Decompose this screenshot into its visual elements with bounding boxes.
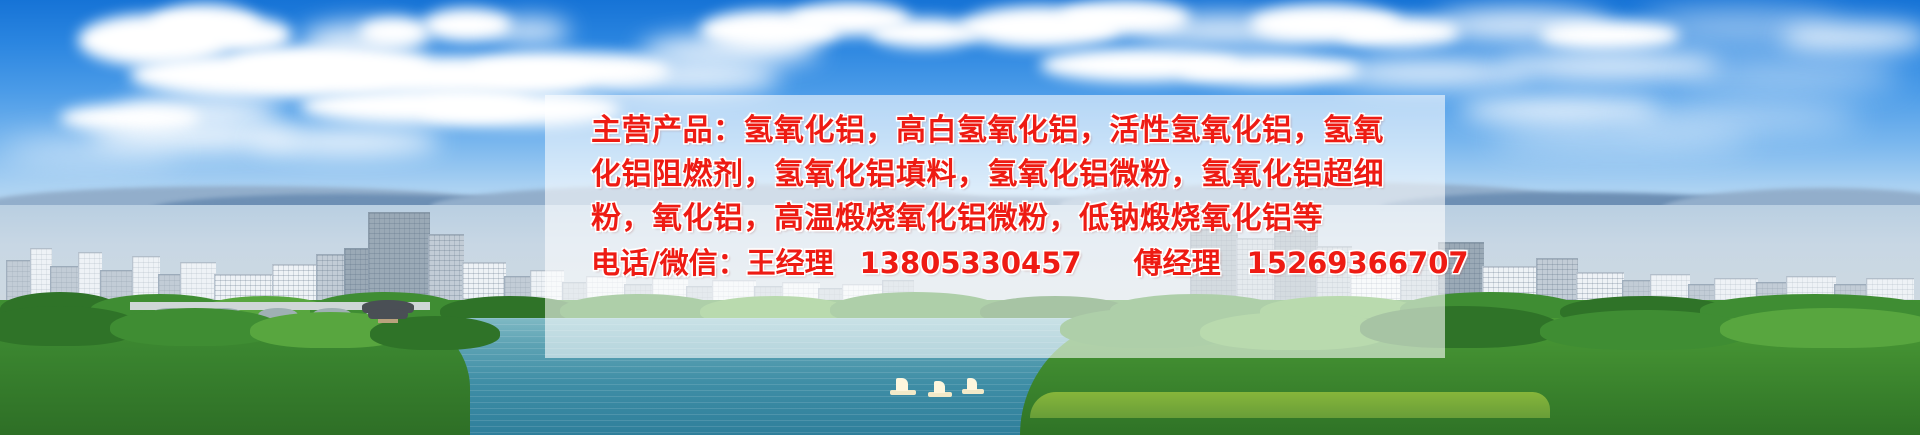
cloud [0, 138, 180, 164]
contact-2-phone[interactable]: 15269366707 [1247, 246, 1469, 280]
cloud [212, 18, 292, 52]
cloud [1780, 22, 1920, 52]
contact-1-name: 王经理 [747, 246, 834, 280]
contact-1-phone[interactable]: 13805330457 [860, 246, 1082, 280]
cloud [640, 34, 820, 66]
boat-sail [934, 381, 945, 393]
cloud [1680, 60, 1900, 90]
shallow-water-strip [1030, 392, 1550, 418]
promotional-text-block: 主营产品：氢氧化铝，高白氢氧化铝，活性氢氧化铝，氢氧 化铝阻燃剂，氢氧化铝填料，… [545, 95, 1445, 358]
pagoda-roof [368, 309, 408, 319]
promotional-banner: 主营产品：氢氧化铝，高白氢氧化铝，活性氢氧化铝，氢氧 化铝阻燃剂，氢氧化铝填料，… [0, 0, 1920, 435]
contact-label: 电话/微信： [591, 246, 747, 280]
boat-sail [896, 378, 908, 391]
product-line-1: 主营产品：氢氧化铝，高白氢氧化铝，活性氢氧化铝，氢氧 [591, 109, 1437, 153]
contact-2-name: 傅经理 [1134, 246, 1221, 280]
cloud [490, 18, 570, 44]
contact-line: 电话/微信：王经理13805330457傅经理15269366707 [591, 241, 1437, 285]
cloud [1490, 126, 1750, 150]
tree-clump [1720, 308, 1920, 348]
cloud [250, 128, 440, 156]
boat-sail [967, 378, 977, 390]
product-line-2: 化铝阻燃剂，氢氧化铝填料，氢氧化铝微粉，氢氧化铝超细 [591, 153, 1437, 197]
tree-clump [1540, 310, 1750, 350]
cloud [1330, 58, 1530, 88]
product-line-3: 粉，氧化铝，高温煅烧氧化铝微粉，低钠煅烧氧化铝等 [591, 197, 1437, 241]
cloud [360, 18, 430, 46]
